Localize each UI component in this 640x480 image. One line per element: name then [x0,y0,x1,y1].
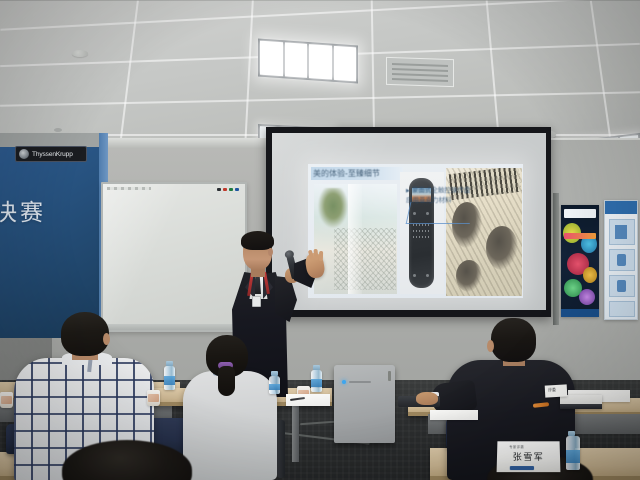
screen-surface: 美的体验-至臻细节 [272,133,546,310]
presenter-badge [252,296,261,307]
small-name-card-text: 评委 [548,387,556,393]
whiteboard-clip [107,187,151,190]
thyssenkrupp-wordmark: ThyssenKrupp [32,151,73,158]
thyssenkrupp-mark-icon [19,149,29,159]
name-tent-card: 专家评委 张雪军 [497,441,561,472]
ear [487,340,494,352]
conference-room-photo: ThyssenKrupp 决赛 美的体验-至臻细节 [0,0,640,480]
paper-cup [147,390,160,406]
thyssenkrupp-logo: ThyssenKrupp [15,146,87,162]
banner-headline: 决赛 [0,193,46,227]
chair-post [277,420,285,478]
name-card-logo [510,466,534,470]
head [61,312,109,356]
power-led-icon [342,380,346,384]
name-card-name: 张雪军 [497,450,560,463]
ceiling [0,0,640,146]
paper-cup [0,392,13,408]
water-bottle [311,370,322,392]
slide-panel-architecture [314,184,397,294]
document-folder [560,395,602,409]
whiteboard [101,182,247,332]
water-bottle [269,376,280,394]
canopy-mesh [334,228,396,290]
projected-slide: 美的体验-至臻细节 [308,164,523,298]
poster-header [605,201,637,214]
poster-illustrated [561,205,599,317]
water-bottle [164,366,175,390]
whiteboard-tray [103,324,245,331]
poster-information-blue [604,200,638,320]
cabinet-handle [388,371,391,381]
paper-sheet [430,410,478,420]
slide-bullet-1: 蒙面式全触控操作盘 [406,186,478,196]
cabinet-label [349,381,371,383]
poster-caption [564,209,596,218]
smoke-detector-icon [72,50,88,57]
projection-screen: 美的体验-至臻细节 [266,127,551,317]
sprinkler-icon [54,128,62,132]
whiteboard-glare [101,182,185,332]
whiteboard-markers [217,188,239,191]
head [491,318,536,362]
presenter-ear [268,248,273,256]
desk-leg [292,404,299,462]
operator-hand [416,392,438,405]
poster-footer [561,309,599,317]
water-bottle [566,436,580,470]
ponytail [218,366,235,396]
tree-photo [318,188,348,228]
slide-bullet-2: 应用亚克力材料 [406,196,478,205]
air-purifier-cabinet [334,365,395,443]
slide-callout-line [406,202,475,224]
slide-title: 美的体验-至臻细节 [313,167,407,180]
ear [103,333,110,345]
slide-bullets: 蒙面式全触控操作盘 应用亚克力材料 [406,186,478,205]
hvac-vent-icon [386,57,454,87]
poster-strip [564,233,596,239]
event-backdrop-banner: ThyssenKrupp 决赛 [0,133,108,338]
door-frame [553,193,559,325]
banner-top-notch [0,133,108,147]
small-name-card: 评委 [545,384,568,397]
ceiling-light-panel-front [258,39,358,84]
name-card-title: 专家评委 [509,444,524,449]
canopy-pillar [348,184,362,294]
